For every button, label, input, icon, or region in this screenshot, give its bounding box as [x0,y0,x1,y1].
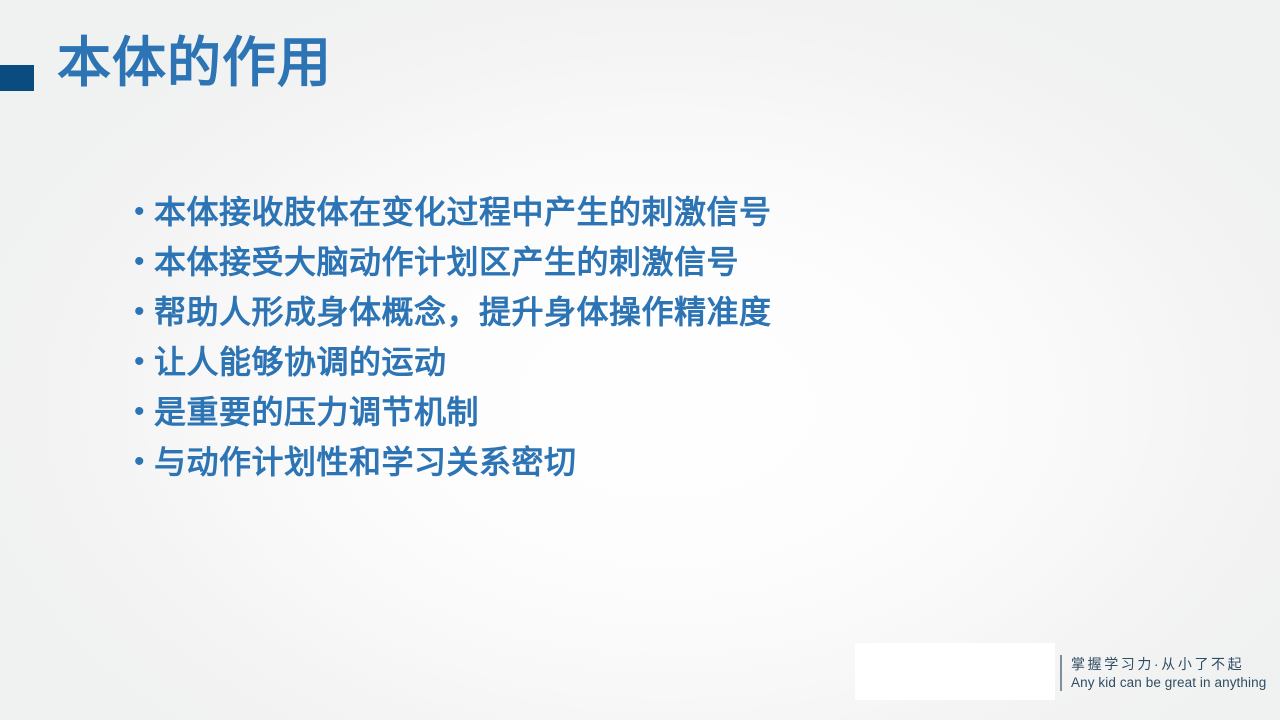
list-item-label: 让人能够协调的运动 [154,346,447,378]
page-title: 本体的作用 [57,35,332,92]
list-item: • 本体接受大脑动作计划区产生的刺激信号 [134,246,1034,296]
bullet-list: • 本体接收肢体在变化过程中产生的刺激信号 • 本体接受大脑动作计划区产生的刺激… [134,196,1034,496]
square-marker-icon [0,65,34,91]
brand-text-group: 掌握学习力·从小了不起 Any kid can be great in anyt… [1071,655,1266,691]
bullet-dot-icon: • [134,397,154,427]
bullet-dot-icon: • [134,347,154,377]
bullet-dot-icon: • [134,197,154,227]
slide-canvas: 本体的作用 • 本体接收肢体在变化过程中产生的刺激信号 • 本体接受大脑动作计划… [0,0,1280,720]
list-item-label: 与动作计划性和学习关系密切 [154,446,577,478]
list-item: • 是重要的压力调节机制 [134,396,1034,446]
slide-title-row: 本体的作用 [0,20,332,106]
brand-slogan-cn: 掌握学习力·从小了不起 [1071,655,1266,674]
list-item-label: 是重要的压力调节机制 [154,396,479,428]
brand-footer: 掌握学习力·从小了不起 Any kid can be great in anyt… [1060,655,1266,691]
footer-logo-placeholder [855,643,1055,700]
list-item-label: 本体接受大脑动作计划区产生的刺激信号 [154,246,739,278]
list-item: • 让人能够协调的运动 [134,346,1034,396]
list-item: • 与动作计划性和学习关系密切 [134,446,1034,496]
list-item: • 帮助人形成身体概念，提升身体操作精准度 [134,296,1034,346]
bullet-dot-icon: • [134,297,154,327]
list-item: • 本体接收肢体在变化过程中产生的刺激信号 [134,196,1034,246]
list-item-label: 本体接收肢体在变化过程中产生的刺激信号 [154,196,772,228]
bullet-dot-icon: • [134,247,154,277]
brand-slogan-en: Any kid can be great in anything [1071,674,1266,691]
list-item-label: 帮助人形成身体概念，提升身体操作精准度 [154,296,772,328]
brand-divider-icon [1060,655,1062,691]
bullet-dot-icon: • [134,447,154,477]
